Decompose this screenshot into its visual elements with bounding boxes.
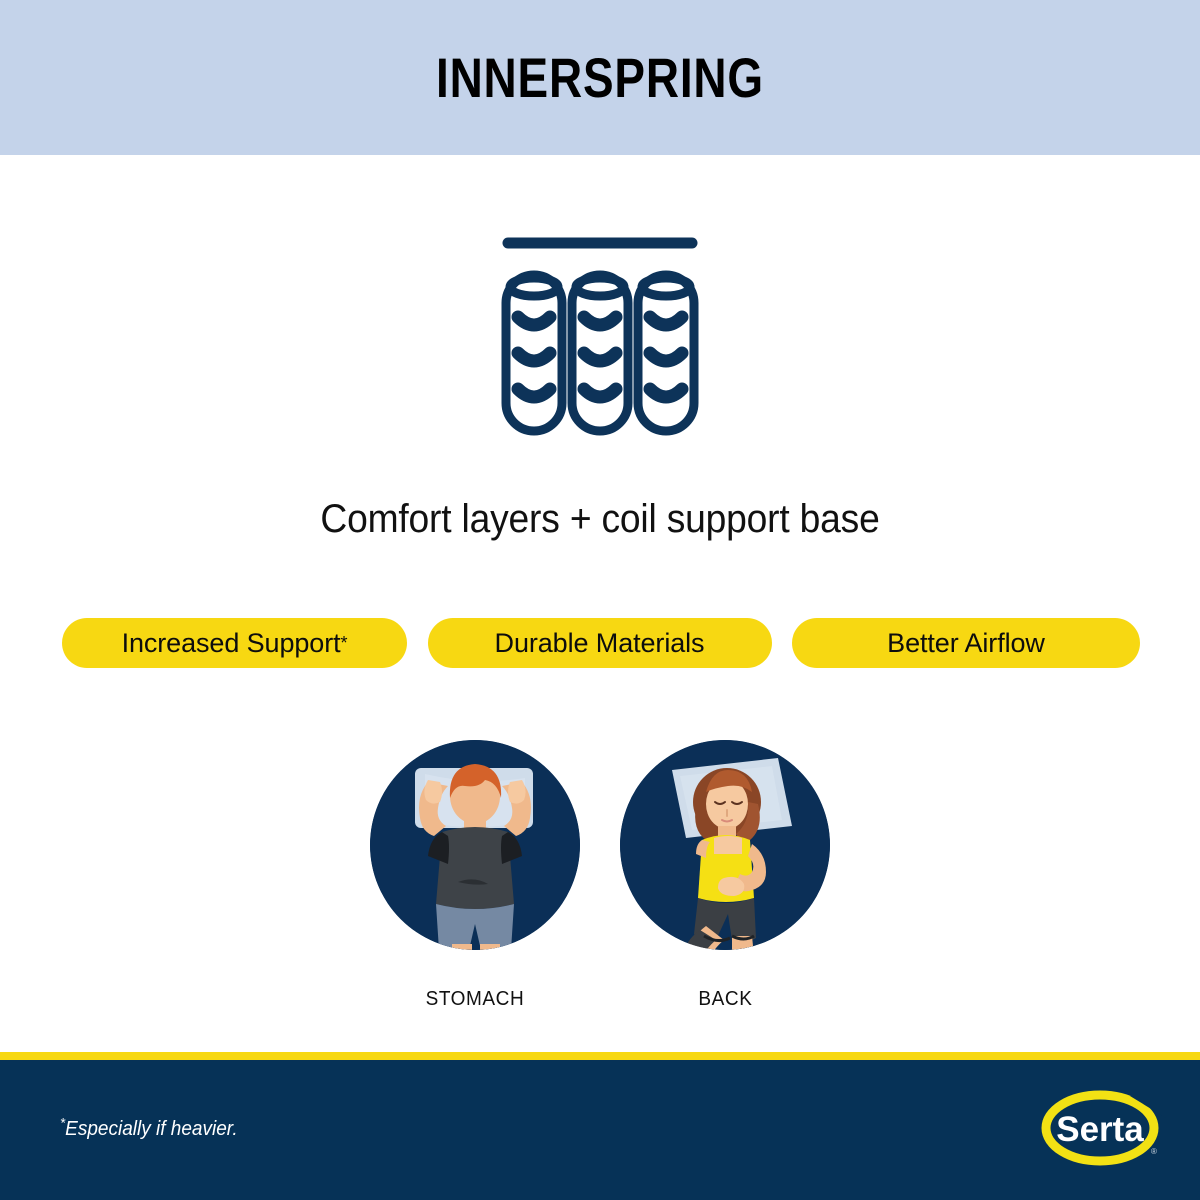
page-header: INNERSPRING [0,0,1200,155]
footnote: *Especially if heavier. [60,1118,238,1141]
feature-pill-durable-materials[interactable]: Durable Materials [428,618,772,668]
subtitle: Comfort layers + coil support base [42,497,1158,542]
sleep-position-label: BACK [698,988,752,1011]
sleep-position-back[interactable]: BACK [620,740,830,1011]
serta-logo[interactable]: Serta ® [1038,1088,1166,1172]
feature-pill-label: Better Airflow [887,628,1045,659]
stomach-sleeper-illustration [370,740,580,950]
footer-accent-stripe [0,1052,1200,1060]
feature-pill-increased-support[interactable]: Increased Support* [62,618,407,668]
feature-pill-label: Durable Materials [495,628,705,659]
back-sleeper-illustration [620,740,830,950]
sleep-position-group: STOMACH [370,740,830,1011]
coil-springs-icon [470,225,730,450]
registered-trademark-icon: ® [1151,1147,1157,1156]
feature-pill-row: Increased Support* Durable Materials Bet… [62,618,1140,668]
sleep-position-stomach[interactable]: STOMACH [370,740,580,1011]
serta-wordmark: Serta [1056,1110,1144,1149]
feature-pill-label: Increased Support [122,628,341,659]
page-title: INNERSPRING [436,45,764,110]
feature-pill-better-airflow[interactable]: Better Airflow [792,618,1140,668]
sleep-position-label: STOMACH [426,988,525,1011]
footnote-text: Especially if heavier. [65,1118,237,1140]
